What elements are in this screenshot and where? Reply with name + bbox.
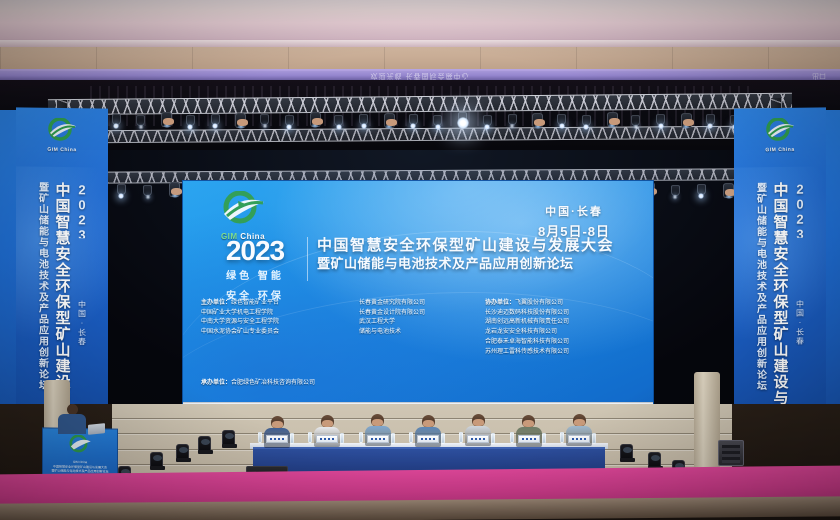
water-bottle (409, 432, 413, 443)
screen-date: 8月5日-8日 (515, 221, 633, 240)
stage-light (112, 114, 121, 125)
water-bottle (308, 432, 312, 443)
stage-light (706, 114, 715, 125)
stage-light (582, 115, 591, 126)
moving-head-light (620, 444, 633, 460)
stage-light (409, 114, 418, 125)
host-first: 绿色智能矿业平台 (231, 300, 279, 306)
organizer-row: 长春黄金研究院有限公司 (359, 299, 477, 309)
moving-head-light (176, 444, 189, 460)
name-placard (467, 435, 489, 443)
panel-member (264, 416, 290, 448)
organizer-row: 长沙迪迈数码科技股份有限公司 (485, 309, 635, 319)
banner-left-city: 中国·长春 (77, 300, 88, 346)
gim-swoosh-icon (763, 118, 797, 144)
screen-year: 2023 (209, 237, 301, 265)
stage-light (631, 115, 640, 126)
water-bottle (340, 433, 344, 444)
panel-member-head (472, 414, 485, 427)
screen-subtitle: 暨矿山储能与电池技术及产品应用创新论坛 (317, 256, 577, 273)
co-label: 协办单位： (485, 300, 515, 306)
organizer-row: 长春黄金设计院有限公司 (359, 309, 477, 319)
podium-laptop (88, 423, 105, 435)
stage-light (334, 115, 343, 126)
stage-light (186, 115, 195, 126)
equipment-rack (718, 440, 744, 466)
co-first: 飞翼股份有限公司 (515, 300, 563, 306)
stage-light (235, 113, 246, 128)
organizer-row: 中南大学资源与安全工程学院 (201, 318, 351, 328)
organizer-row: 武汉工程大学 (359, 318, 477, 328)
stage-light (723, 183, 734, 198)
organizer-col-host-1: 主办单位：绿色智能矿业平台 中国矿业大学机电工程学院 中南大学资源与安全工程学院… (201, 299, 351, 357)
banner-right-logo: GIM China (753, 118, 807, 154)
stage-light (161, 112, 172, 127)
name-placard (316, 435, 338, 443)
panel-member-head (573, 414, 586, 427)
panel-member-head (271, 416, 284, 429)
stage-light (671, 185, 680, 196)
banner-left-logo: GIM China (35, 118, 89, 154)
name-placard (367, 435, 389, 443)
name-placard (266, 435, 288, 443)
water-bottle (441, 433, 445, 444)
host-label: 主办单位： (201, 300, 231, 306)
stage-light (143, 185, 152, 196)
panel-member-head (321, 415, 334, 428)
stage-light (136, 115, 145, 126)
water-bottle (459, 432, 463, 443)
organizer-row: 合肥泰禾卓海智能科技有限公司 (485, 338, 635, 348)
organizer-row: 中国矿业大学机电工程学院 (201, 309, 351, 319)
stage-light (359, 114, 368, 125)
screen-year-block: 2023 绿色 智能 安全 环保 (209, 237, 301, 304)
banner-right-title: 中国智慧安全环保型矿山建设与发展大会 (770, 182, 791, 432)
speaker-at-podium (58, 404, 86, 434)
stage-light (483, 115, 492, 126)
screen-divider (307, 237, 308, 281)
screen-title-block: 中国智慧安全环保型矿山建设与发展大会 暨矿山储能与电池技术及产品应用创新论坛 (317, 237, 577, 273)
water-bottle (391, 433, 395, 444)
organizer-host-row: 主办单位：绿色智能矿业平台 (201, 299, 351, 309)
screen-organizers: 主办单位：绿色智能矿业平台 中国矿业大学机电工程学院 中南大学资源与安全工程学院… (201, 299, 639, 357)
water-bottle (510, 432, 514, 443)
screen-slogan-1: 绿色 智能 (209, 270, 301, 285)
stage-light (656, 114, 665, 125)
screen-logo: GIM China (205, 191, 281, 241)
stage-light (433, 115, 442, 126)
organizer-col-host-2: 长春黄金研究院有限公司 长春黄金设计院有限公司 武汉工程大学 储能与电池技术 (359, 299, 477, 357)
organizer-row: 龙岩龙安安全科技有限公司 (485, 328, 635, 338)
banner-right-subtitle: 暨矿山储能与电池技术及产品应用创新论坛 (753, 182, 768, 430)
moving-head-light (222, 430, 235, 446)
pillar-right (694, 372, 720, 476)
organizer-co-row: 协办单位：飞翼股份有限公司 (485, 299, 635, 309)
stage-light (285, 115, 294, 126)
screen-city: 中国·长春 (515, 203, 633, 219)
name-placard (568, 435, 590, 443)
upper-wall-band (0, 47, 840, 71)
screen-undertaker: 承办单位：合肥绿色矿冶科技咨询有限公司 (201, 377, 315, 386)
organizer-row: 中国水泥协会矿山专业委员会 (201, 328, 351, 338)
banner-right-text: 2023 中国·长春 中国智慧安全环保型矿山建设与发展大会 暨矿山储能与电池技术… (734, 181, 826, 434)
gim-swoosh-icon (45, 118, 79, 144)
organizer-col-co: 协办单位：飞翼股份有限公司 长沙迪迈数码科技股份有限公司 湖南创远高新机械有限责… (485, 299, 635, 357)
water-bottle (542, 433, 546, 444)
main-led-screen: GIM China 2023 绿色 智能 安全 环保 中国智慧安全环保型矿山建设… (182, 180, 654, 415)
name-placard (518, 435, 540, 443)
water-bottle (592, 433, 596, 444)
stage-light (384, 113, 395, 128)
screen-place-block: 中国·长春 8月5日-8日 (515, 203, 633, 240)
banner-left-year: 2023 (75, 182, 90, 238)
stage-light (532, 113, 543, 128)
undertaker-label: 承办单位： (201, 380, 231, 386)
water-bottle (258, 432, 262, 443)
name-placard (417, 435, 439, 443)
banner-right-logo-text: GIM China (753, 147, 807, 154)
stage-light (557, 114, 566, 125)
conference-stage-photo: 欢迎光临 长春国际会展中心 出口 GIM China 2023 中国·长春 中国… (0, 0, 840, 520)
organizer-row: 储能与电池技术 (359, 328, 477, 338)
organizer-row: 湖南创远高新机械有限责任公司 (485, 318, 635, 328)
stage-light (607, 112, 618, 127)
banner-right-year: 2023 (793, 182, 808, 238)
panel-member-head (422, 415, 435, 428)
stage-light (458, 112, 467, 123)
gim-swoosh-icon (218, 191, 268, 229)
moving-head-light (648, 452, 661, 468)
moving-head-light (150, 452, 163, 468)
water-bottle (290, 433, 294, 444)
banner-left-logo-text: GIM China (35, 147, 89, 154)
banner-right: GIM China 2023 中国·长春 中国智慧安全环保型矿山建设与发展大会 … (734, 107, 826, 438)
stage-light (169, 182, 180, 197)
stage-light (697, 184, 706, 195)
organizer-row: 苏州理工雷科传感技术有限公司 (485, 348, 635, 358)
stage-light (681, 113, 692, 128)
banner-right-city: 中国·长春 (795, 300, 806, 346)
water-bottle (560, 432, 564, 443)
water-bottle (491, 433, 495, 444)
stage-light (211, 114, 220, 125)
speaker-body (58, 414, 86, 434)
moving-head-light (198, 436, 211, 452)
stage-light (260, 114, 269, 125)
undertaker-name: 合肥绿色矿冶科技咨询有限公司 (231, 380, 315, 386)
water-bottle (359, 432, 363, 443)
stage-light (508, 114, 517, 125)
gim-swoosh-icon (67, 435, 93, 455)
stage-light (310, 112, 321, 127)
stage-light (117, 184, 126, 195)
